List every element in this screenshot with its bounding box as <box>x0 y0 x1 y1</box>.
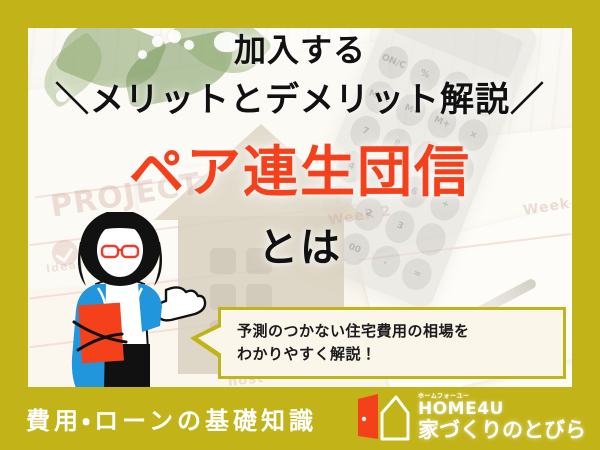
speech-bubble-text: 予測のつかない住宅費用の相場を わかりやすく解説！ <box>237 320 470 366</box>
character-folder <box>78 303 124 364</box>
door-knob <box>362 417 366 421</box>
speech-bubble-line-2: わかりやすく解説！ <box>237 343 470 366</box>
speech-bubble: 予測のつかない住宅費用の相場を わかりやすく解説！ <box>218 307 566 379</box>
woman-character-svg <box>34 212 214 392</box>
house-outline <box>382 397 408 439</box>
brand-logo[interactable]: ホームフォーユー HOME4U 家づくりのとびら <box>356 391 586 443</box>
speech-bubble-line-1: 予測のつかない住宅費用の相場を <box>237 320 470 343</box>
door-house-svg <box>356 391 410 443</box>
brand-name: HOME4U <box>418 401 586 418</box>
page-title: ペア連生団信 <box>28 140 572 204</box>
headline-line-1: 加入する <box>28 30 572 70</box>
door-house-icon <box>356 391 410 443</box>
brand-tagline: 家づくりのとびら <box>418 420 586 441</box>
door-panel <box>358 394 378 439</box>
bottom-bar: 費用・ローンの基礎知識 ホームフォーユー HOME4U 家づくりのとびら <box>0 387 600 450</box>
headline-line-2: ＼メリットとデメリット解説／ <box>28 78 572 122</box>
speech-bubble-tail-fill <box>198 326 223 355</box>
category-label: 費用・ローンの基礎知識 <box>26 401 317 436</box>
character-hand <box>157 287 205 320</box>
brand-wordmark: ホームフォーユー HOME4U 家づくりのとびら <box>418 394 586 441</box>
character-illustration <box>34 212 214 392</box>
banner-root: ON/C % ÷ +/- MRC M- M+ × 7 8 9 - 4 5 6 +… <box>0 0 600 450</box>
